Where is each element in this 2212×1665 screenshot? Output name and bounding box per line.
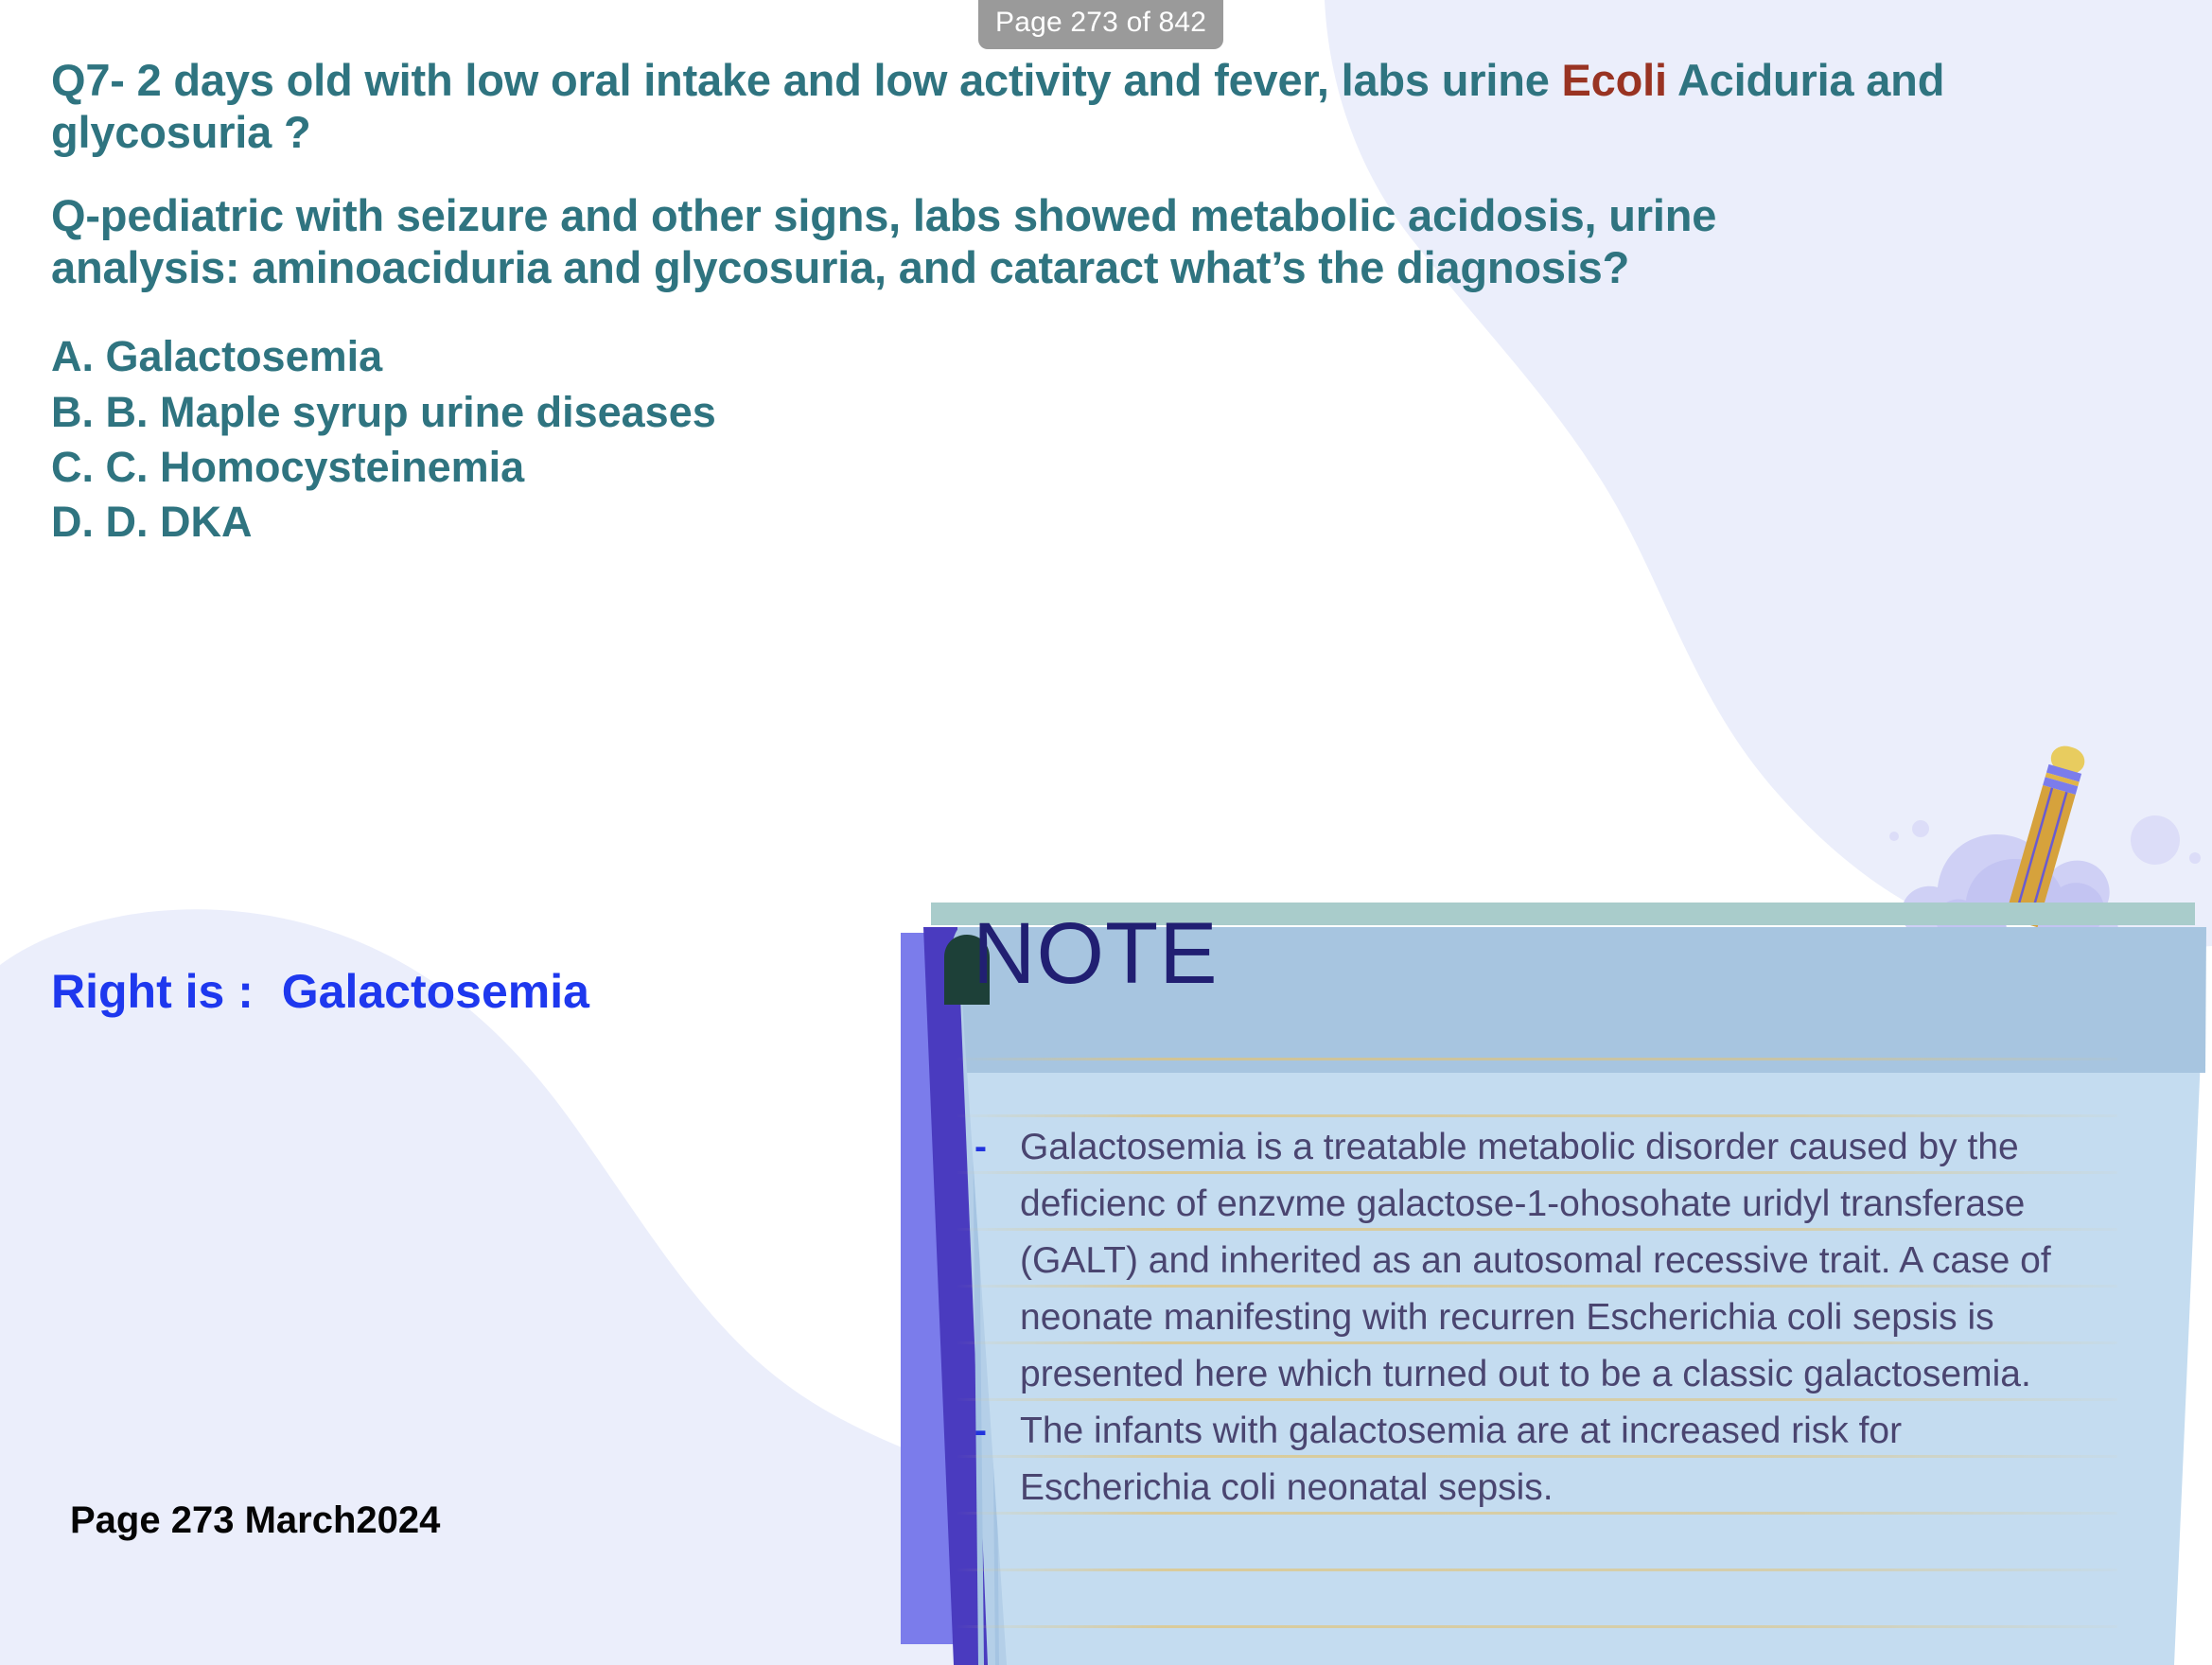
correct-answer-value: Galactosemia	[282, 965, 589, 1018]
question-pediatric: Q-pediatric with seizure and other signs…	[51, 190, 1887, 293]
correct-answer-line: Right is : Galactosemia	[51, 965, 589, 1020]
question-q7: Q7- 2 days old with low oral intake and …	[51, 55, 2066, 158]
note-bullet-text-2: The infants with galactosemia are at inc…	[1020, 1411, 1902, 1508]
note-bullet-text-1: Galactosemia is a treatable metabolic di…	[1020, 1127, 2051, 1394]
note-bullet-marker-2: -	[974, 1403, 987, 1460]
note-bullet-3: -	[974, 1516, 2096, 1535]
slide-canvas: Page 273 of 842 Q7- 2 days old with low …	[0, 0, 2212, 1665]
footer-page-label: Page 273 March2024	[70, 1499, 440, 1542]
note-bullet-marker-1: -	[974, 1119, 987, 1176]
option-c[interactable]: C. C. Homocysteinemia	[51, 442, 2085, 493]
note-card: NOTE - Galactosemia is a treatable metab…	[901, 887, 2212, 1665]
slide-text-column: Q7- 2 days old with low oral intake and …	[51, 55, 2085, 552]
option-d[interactable]: D. D. DKA	[51, 497, 2085, 548]
correct-answer-prefix: Right is :	[51, 965, 267, 1018]
page-indicator-badge: Page 273 of 842	[978, 0, 1223, 49]
question-q7-highlight-ecoli: Ecoli	[1562, 55, 1667, 105]
cloud-dot-tiny-left	[1889, 832, 1899, 841]
note-bullet-2: - The infants with galactosemia are at i…	[974, 1403, 2096, 1516]
note-bullet-1: - Galactosemia is a treatable metabolic …	[974, 1119, 2096, 1403]
option-b[interactable]: B. B. Maple syrup urine diseases	[51, 387, 2085, 438]
note-body: - Galactosemia is a treatable metabolic …	[974, 1119, 2096, 1535]
cloud-dot-large-right	[2131, 815, 2180, 865]
cloud-dot-tiny-right	[2189, 852, 2201, 864]
note-bullet-marker-3: -	[974, 1516, 987, 1535]
note-title: NOTE	[973, 910, 1219, 997]
option-a[interactable]: A. Galactosemia	[51, 331, 2085, 382]
question-q7-part-1: Q7- 2 days old with low oral intake and …	[51, 55, 1562, 105]
cloud-dot-small-left	[1912, 820, 1929, 837]
answer-options-list: A. Galactosemia B. B. Maple syrup urine …	[51, 331, 2085, 549]
